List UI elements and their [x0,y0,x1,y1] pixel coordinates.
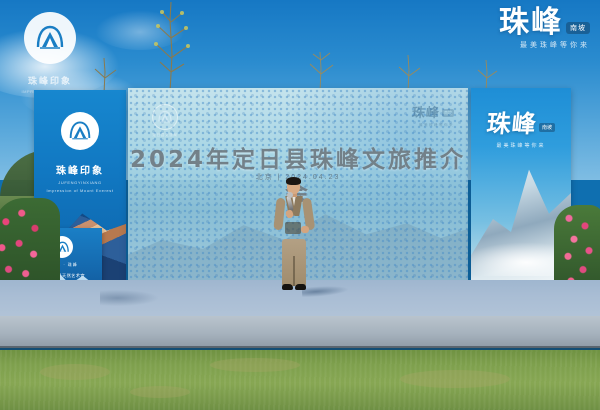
calligraphy-tagline: 最美珠峰等你来 [450,40,590,50]
everest-arch-logo-icon [61,112,99,150]
speaker-shoe-left [282,284,293,290]
grass-patch [40,364,110,380]
speaker-leg-seam [293,256,295,286]
led-calligraphy-badge: 南坡 [442,109,454,117]
led-calligraphy-tagline: 最美珠峰等你来 [412,123,454,128]
right-calligraphy-tagline: 最美珠峰等你来 [471,142,571,149]
speaker-pocket [285,222,301,234]
grass-foreground [0,350,600,410]
tree-branch-icon [140,0,210,92]
speaker-shoe-right [295,284,306,290]
right-panel-calligraphy: 珠峰南坡 最美珠峰等你来 [471,104,571,149]
left-panel-subtitle-en: Impression of Mount Everest [34,188,126,193]
everest-arch-logo-icon [152,104,178,130]
led-logo: 定日县文旅局 [148,104,182,138]
grass-patch [210,358,300,372]
right-calligraphy-zhufeng: 珠峰 [485,104,539,139]
microphone-head-icon [287,192,293,198]
calligraphy-zhufeng: 珠峰 [499,5,563,40]
everest-arch-logo-icon [24,12,76,64]
right-calligraphy-badge: 南坡 [539,123,555,132]
led-calligraphy-zhufeng: 珠峰 [411,102,441,121]
grass-patch [400,370,510,388]
board-shadow [100,290,158,306]
led-logo-text: 定日县文旅局 [148,133,182,138]
speaker-hair [286,177,301,185]
speaker-hand-right [301,226,309,233]
speaker-figure [272,178,316,296]
grass-patch [130,386,190,398]
led-corner-calligraphy: 珠峰南坡 最美珠峰等你来 [412,102,454,128]
left-panel-subtitle: JUFENGYINXIANG [34,180,126,185]
event-photo-scene: 珠峰印象 IMPRESSION OF MOUNT EVEREST 珠峰南坡 最美… [0,0,600,410]
watermark-top-right: 珠峰南坡 最美珠峰等你来 [450,8,590,70]
cloud [95,10,185,50]
stage-front-edge [0,316,600,348]
calligraphy-badge: 南坡 [566,22,590,34]
left-panel-title: 珠峰印象 [34,162,126,177]
